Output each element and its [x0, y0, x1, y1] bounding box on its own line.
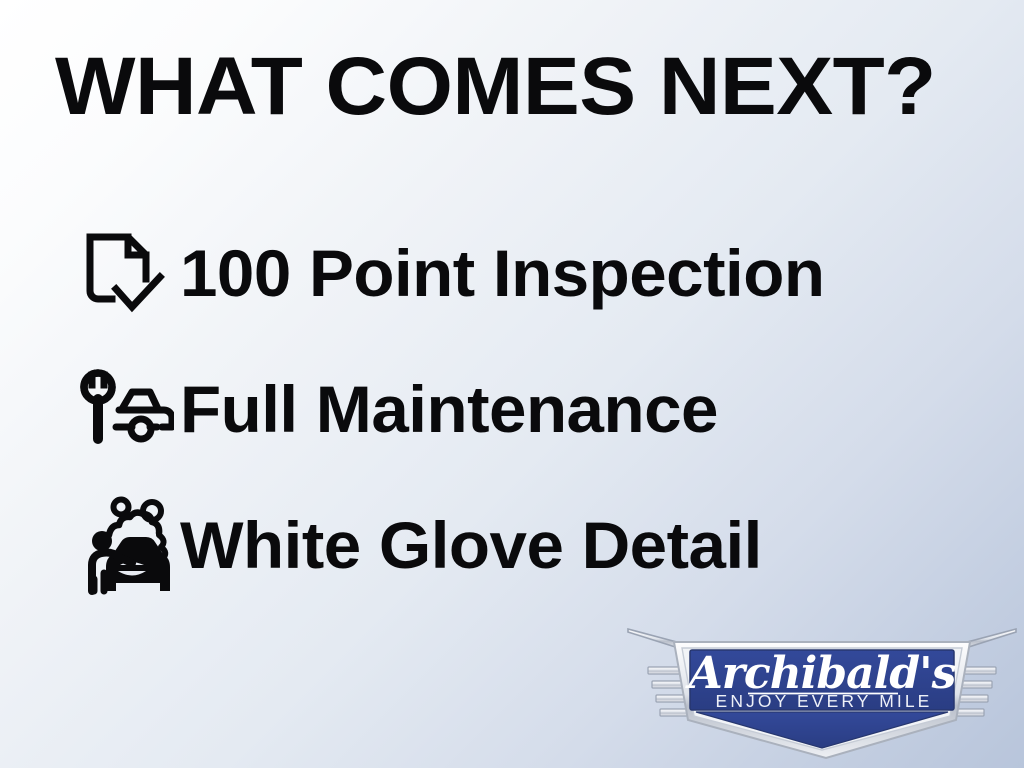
list-item-label: White Glove Detail [180, 512, 762, 578]
list-item-label: 100 Point Inspection [180, 240, 824, 306]
feature-list: 100 Point Inspection [72, 205, 992, 613]
list-item: White Glove Detail [72, 477, 992, 613]
list-item: Full Maintenance [72, 341, 992, 477]
slide-canvas: WHAT COMES NEXT? 100 Point Inspection [0, 0, 1024, 768]
list-item-label: Full Maintenance [180, 376, 718, 442]
list-item: 100 Point Inspection [72, 205, 992, 341]
wrench-car-icon [72, 357, 180, 461]
document-check-icon [72, 221, 180, 325]
car-wash-icon [72, 493, 180, 597]
page-title: WHAT COMES NEXT? [55, 46, 936, 128]
logo-tagline: ENJOY EVERY MILE [716, 691, 933, 711]
dealership-logo: Archibald's ENJOY EVERY MILE [626, 618, 1018, 766]
